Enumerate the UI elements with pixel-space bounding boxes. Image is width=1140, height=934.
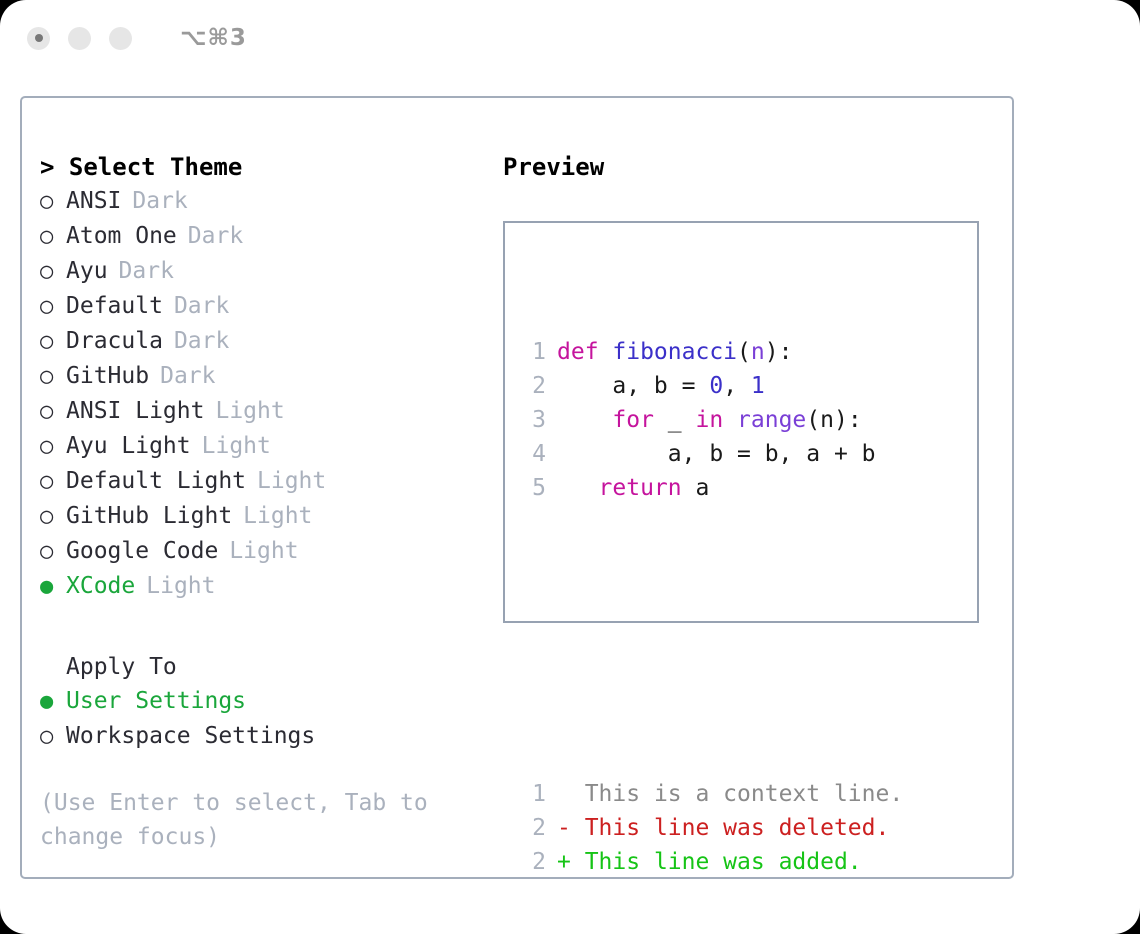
theme-list-item[interactable]: ●XCodeLight (40, 569, 480, 604)
theme-list-item[interactable]: ○GitHub LightLight (40, 499, 480, 534)
code-token-plain: _ (654, 403, 696, 437)
main-panel: > Select Theme ○ANSIDark○Atom OneDark○Ay… (20, 96, 1014, 879)
theme-selector-column: > Select Theme ○ANSIDark○Atom OneDark○Ay… (40, 150, 480, 854)
code-token-plain: ): (765, 335, 793, 369)
code-line: 1def fibonacci(n): (522, 335, 903, 369)
theme-name-label: Default Light (66, 464, 246, 498)
theme-kind-label: Light (146, 569, 215, 603)
apply-to-heading: Apply To (40, 650, 480, 684)
theme-list: ○ANSIDark○Atom OneDark○AyuDark○DefaultDa… (40, 184, 480, 604)
code-token-param: n (751, 335, 765, 369)
theme-name-label: GitHub (66, 359, 149, 393)
radio-unselected-icon: ○ (40, 430, 66, 464)
line-number: 2 (522, 845, 546, 879)
theme-name-label: Dracula (66, 324, 163, 358)
radio-unselected-icon: ○ (40, 185, 66, 219)
code-line: 4 a, b = b, a + b (522, 437, 903, 471)
apply-to-label: Workspace Settings (66, 719, 315, 753)
code-token-kw: return (599, 471, 682, 505)
preview-column: Preview 1def fibonacci(n):2 a, b = 0, 13… (503, 150, 993, 623)
code-token-plain: a, b = (557, 369, 709, 403)
radio-selected-icon: ● (40, 685, 66, 719)
theme-kind-label: Light (229, 534, 298, 568)
apply-to-item[interactable]: ●User Settings (40, 684, 480, 719)
theme-name-label: Ayu (66, 254, 108, 288)
theme-name-label: ANSI (66, 184, 121, 218)
traffic-light-minimize-button[interactable] (68, 27, 91, 50)
radio-unselected-icon: ○ (40, 465, 66, 499)
theme-name-label: Default (66, 289, 163, 323)
diff-marker: - (557, 811, 585, 845)
theme-kind-label: Dark (160, 359, 215, 393)
diff-line: 2- This line was deleted. (522, 811, 903, 845)
theme-name-label: GitHub Light (66, 499, 232, 533)
code-token-plain: , (723, 369, 751, 403)
radio-unselected-icon: ○ (40, 360, 66, 394)
radio-unselected-icon: ○ (40, 255, 66, 289)
apply-to-item[interactable]: ○Workspace Settings (40, 719, 480, 754)
code-token-builtin: range (737, 403, 806, 437)
theme-list-item[interactable]: ○Atom OneDark (40, 219, 480, 254)
diff-line: 1 This is a context line. (522, 777, 903, 811)
preview-box: 1def fibonacci(n):2 a, b = 0, 13 for _ i… (503, 221, 979, 623)
code-token-plain (557, 403, 612, 437)
line-number: 4 (522, 437, 546, 471)
code-token-kw: def (557, 335, 612, 369)
preview-heading: Preview (503, 150, 993, 184)
code-token-plain: ( (737, 335, 751, 369)
line-number: 3 (522, 403, 546, 437)
line-number: 2 (522, 369, 546, 403)
code-token-num: 1 (751, 369, 765, 403)
theme-list-item[interactable]: ○ANSI LightLight (40, 394, 480, 429)
app-window: ⌥⌘3 > Select Theme ○ANSIDark○Atom OneDar… (0, 0, 1140, 934)
code-line: 2 a, b = 0, 1 (522, 369, 903, 403)
line-number: 2 (522, 811, 546, 845)
diff-marker: + (557, 845, 585, 879)
theme-list-item[interactable]: ○Ayu LightLight (40, 429, 480, 464)
code-token-plain: (n): (806, 403, 861, 437)
theme-name-label: ANSI Light (66, 394, 204, 428)
code-token-fn: fibonacci (612, 335, 737, 369)
theme-name-label: XCode (66, 569, 135, 603)
line-number: 5 (522, 471, 546, 505)
code-token-plain (557, 471, 599, 505)
traffic-light-close-icon (35, 34, 43, 42)
apply-to-label: User Settings (66, 684, 246, 718)
code-token-kw: for (612, 403, 654, 437)
theme-kind-label: Light (243, 499, 312, 533)
diff-line: 2+ This line was added. (522, 845, 903, 879)
theme-list-item[interactable]: ○Google CodeLight (40, 534, 480, 569)
theme-kind-label: Dark (188, 219, 243, 253)
title-bar: ⌥⌘3 (0, 0, 1140, 76)
diff-marker (557, 777, 585, 811)
theme-kind-label: Dark (174, 289, 229, 323)
code-token-kw: in (695, 403, 723, 437)
code-token-plain: a (682, 471, 710, 505)
theme-name-label: Ayu Light (66, 429, 191, 463)
keyboard-hint-text: (Use Enter to select, Tab to change focu… (40, 786, 450, 854)
theme-list-item[interactable]: ○ANSIDark (40, 184, 480, 219)
theme-list-item[interactable]: ○DefaultDark (40, 289, 480, 324)
diff-block: 1 This is a context line.2- This line wa… (522, 777, 903, 879)
theme-name-label: Google Code (66, 534, 218, 568)
theme-kind-label: Dark (132, 184, 187, 218)
code-blank-line (522, 675, 903, 709)
theme-list-item[interactable]: ○GitHubDark (40, 359, 480, 394)
code-line: 5 return a (522, 471, 903, 505)
code-token-plain (723, 403, 737, 437)
theme-kind-label: Dark (174, 324, 229, 358)
select-theme-heading: > Select Theme (40, 150, 480, 184)
radio-unselected-icon: ○ (40, 395, 66, 429)
traffic-light-close-button[interactable] (27, 27, 50, 50)
code-line: 3 for _ in range(n): (522, 403, 903, 437)
theme-list-item[interactable]: ○DraculaDark (40, 324, 480, 359)
radio-selected-icon: ● (40, 570, 66, 604)
code-token-plain: a, b = b, a + b (557, 437, 876, 471)
keyboard-shortcut-label: ⌥⌘3 (180, 25, 247, 51)
traffic-light-zoom-button[interactable] (109, 27, 132, 50)
radio-unselected-icon: ○ (40, 325, 66, 359)
theme-list-item[interactable]: ○Default LightLight (40, 464, 480, 499)
radio-unselected-icon: ○ (40, 535, 66, 569)
line-number: 1 (522, 777, 546, 811)
traffic-light-group (27, 27, 132, 50)
theme-kind-label: Light (257, 464, 326, 498)
radio-unselected-icon: ○ (40, 290, 66, 324)
section-spacer (40, 604, 480, 650)
theme-kind-label: Light (215, 394, 284, 428)
code-blank-line (522, 573, 903, 607)
radio-unselected-icon: ○ (40, 500, 66, 534)
diff-text: This is a context line. (585, 777, 904, 811)
theme-kind-label: Dark (119, 254, 174, 288)
radio-unselected-icon: ○ (40, 720, 66, 754)
code-sample: 1def fibonacci(n):2 a, b = 0, 13 for _ i… (522, 267, 903, 934)
diff-text: This line was deleted. (585, 811, 890, 845)
code-block: 1def fibonacci(n):2 a, b = 0, 13 for _ i… (522, 335, 903, 505)
theme-name-label: Atom One (66, 219, 177, 253)
code-token-num: 0 (709, 369, 723, 403)
radio-unselected-icon: ○ (40, 220, 66, 254)
line-number: 1 (522, 335, 546, 369)
panel-body: > Select Theme ○ANSIDark○Atom OneDark○Ay… (22, 98, 1012, 877)
theme-list-item[interactable]: ○AyuDark (40, 254, 480, 289)
apply-to-list: ●User Settings○Workspace Settings (40, 684, 480, 754)
diff-text: This line was added. (585, 845, 862, 879)
theme-kind-label: Light (202, 429, 271, 463)
